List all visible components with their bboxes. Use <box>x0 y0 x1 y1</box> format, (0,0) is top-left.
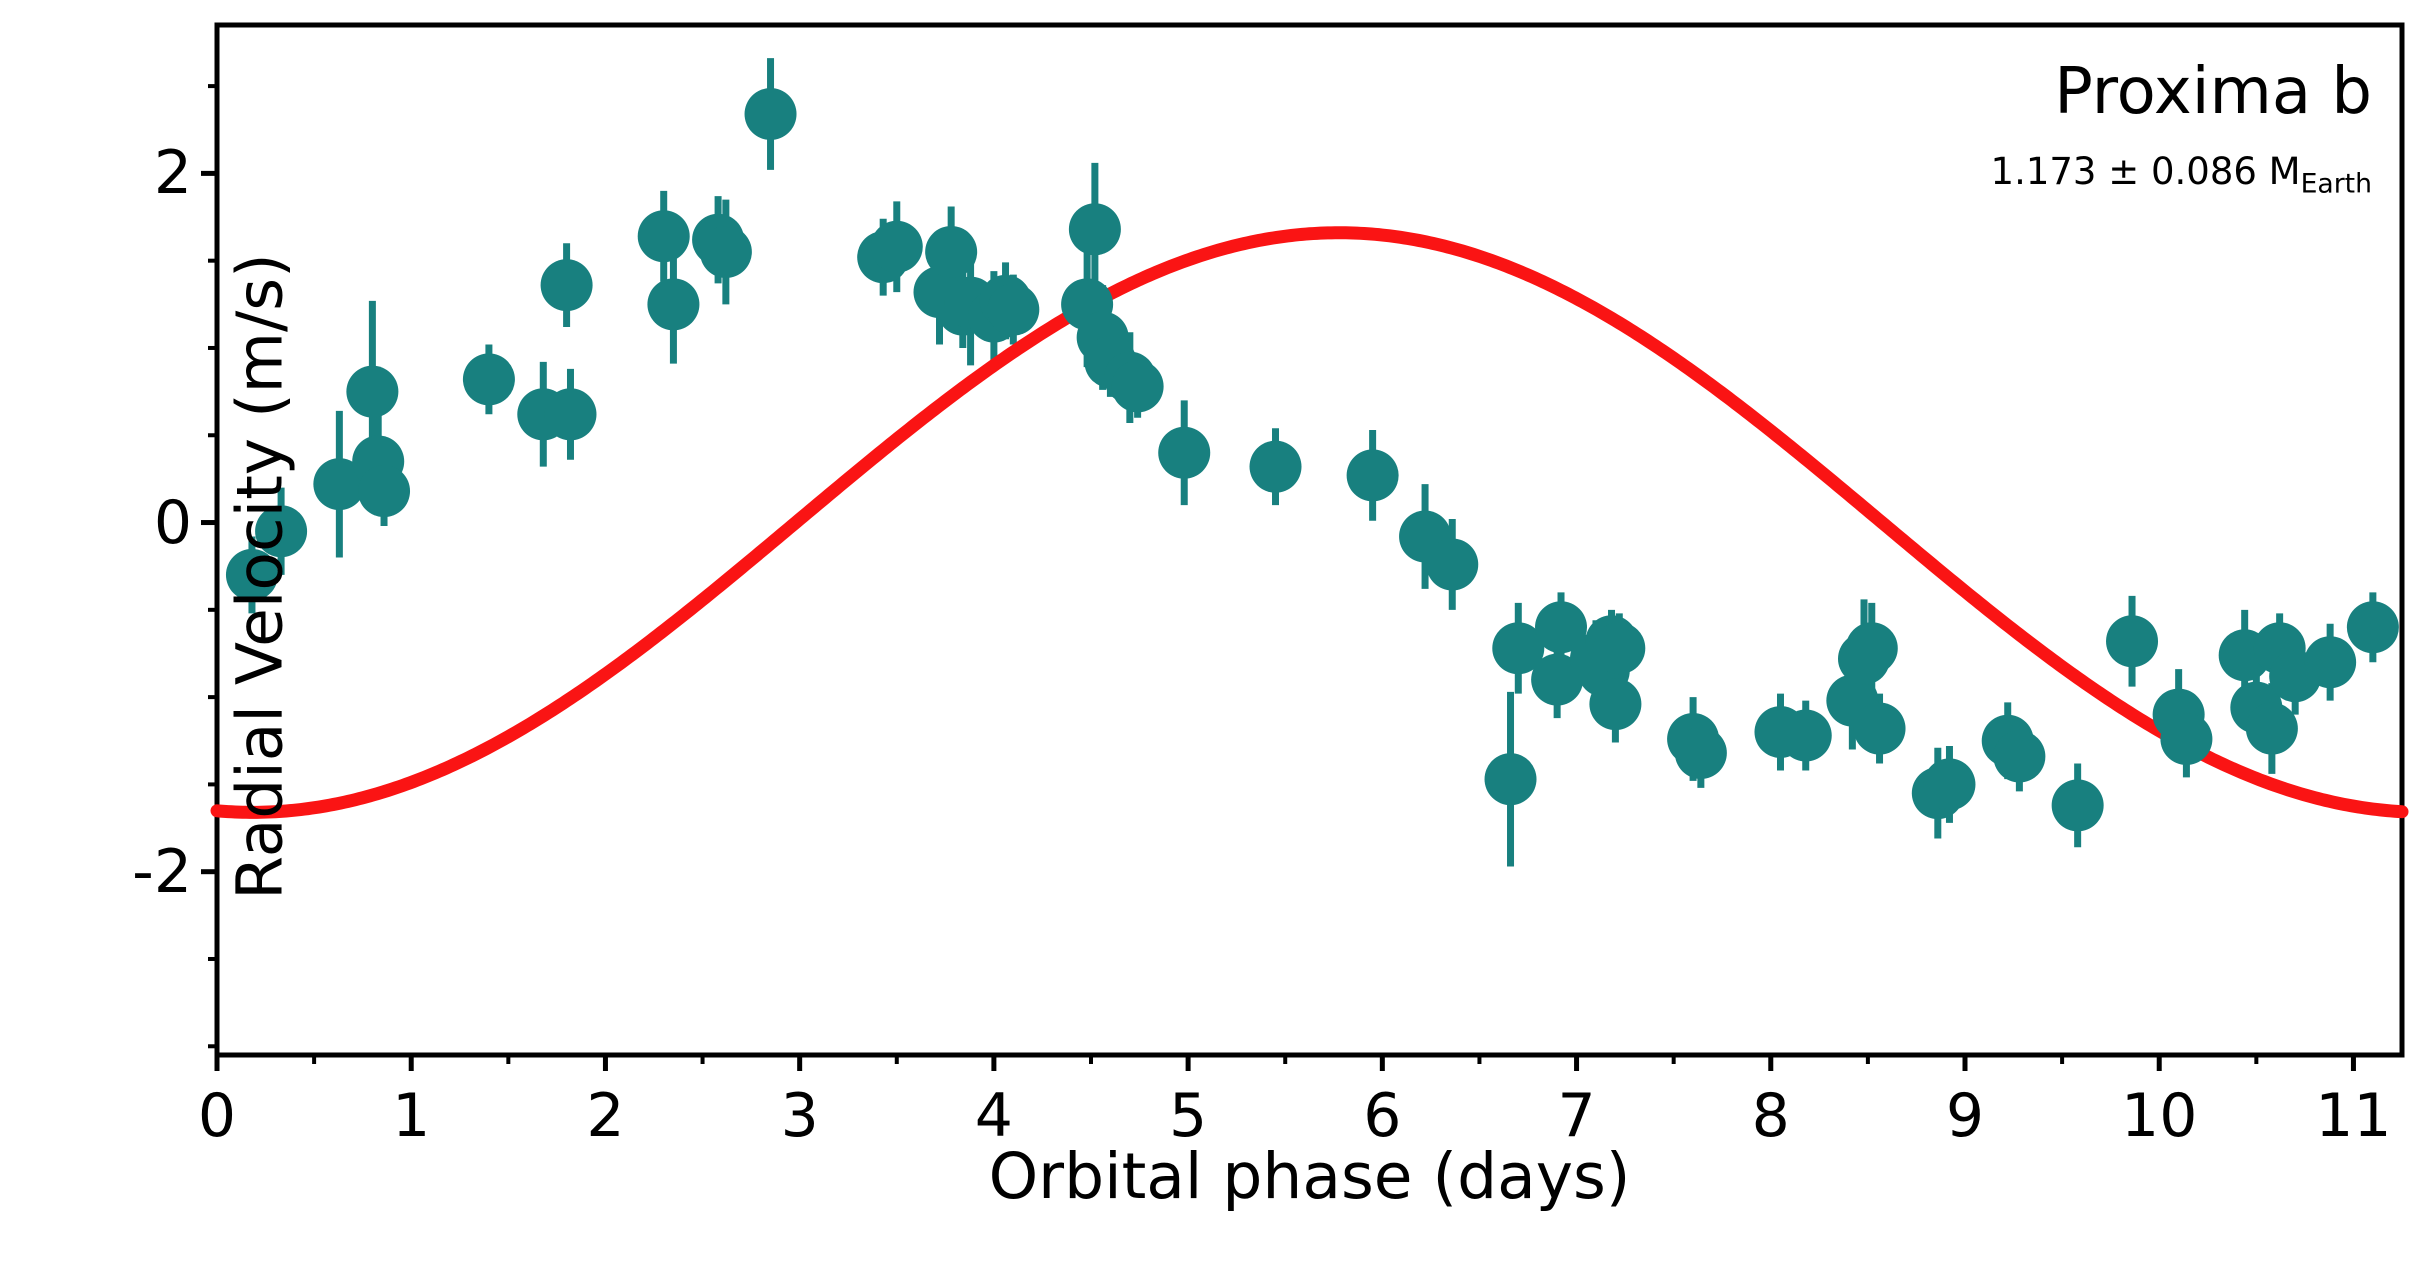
data-point <box>1923 758 1975 810</box>
data-point <box>1593 622 1645 674</box>
data-point <box>925 226 977 278</box>
data-point <box>1158 427 1210 479</box>
data-point <box>1854 703 1906 755</box>
data-point <box>1069 203 1121 255</box>
data-point <box>700 226 752 278</box>
planet-name-annotation: Proxima b <box>2054 55 2372 129</box>
data-point <box>1347 449 1399 501</box>
data-point <box>346 366 398 418</box>
y-tick-label: 0 <box>7 488 192 558</box>
planet-mass-subscript: Earth <box>2301 168 2372 199</box>
radial-velocity-figure: 01234567891011 -202 Radial Velocity (m/s… <box>0 0 2432 1272</box>
data-point <box>1846 622 1898 674</box>
data-point <box>745 88 797 140</box>
data-point <box>1485 753 1537 805</box>
data-point <box>2304 636 2356 688</box>
data-point <box>1780 710 1832 762</box>
data-point <box>2246 703 2298 755</box>
data-point <box>1675 727 1727 779</box>
data-point <box>358 465 410 517</box>
data-point <box>1426 538 1478 590</box>
data-point <box>2160 713 2212 765</box>
data-point <box>2106 615 2158 667</box>
data-point <box>638 210 690 262</box>
y-tick-label: -2 <box>7 837 192 907</box>
data-point <box>2347 601 2399 653</box>
data-point <box>463 353 515 405</box>
data-point <box>987 284 1039 336</box>
data-point <box>541 259 593 311</box>
data-point <box>1993 730 2045 782</box>
data-point <box>871 221 923 273</box>
data-point <box>544 388 596 440</box>
y-axis-title: Radial Velocity (m/s) <box>224 77 297 1077</box>
y-tick-label: 2 <box>7 138 192 208</box>
data-point <box>1589 678 1641 730</box>
planet-mass-value: 1.173 ± 0.086 M <box>1991 150 2301 193</box>
data-point <box>1250 441 1302 493</box>
data-point <box>2052 779 2104 831</box>
data-point <box>647 278 699 330</box>
x-axis-title: Orbital phase (days) <box>217 1140 2402 1213</box>
planet-mass-annotation: 1.173 ± 0.086 MEarth <box>1991 150 2372 199</box>
data-point <box>1112 360 1164 412</box>
